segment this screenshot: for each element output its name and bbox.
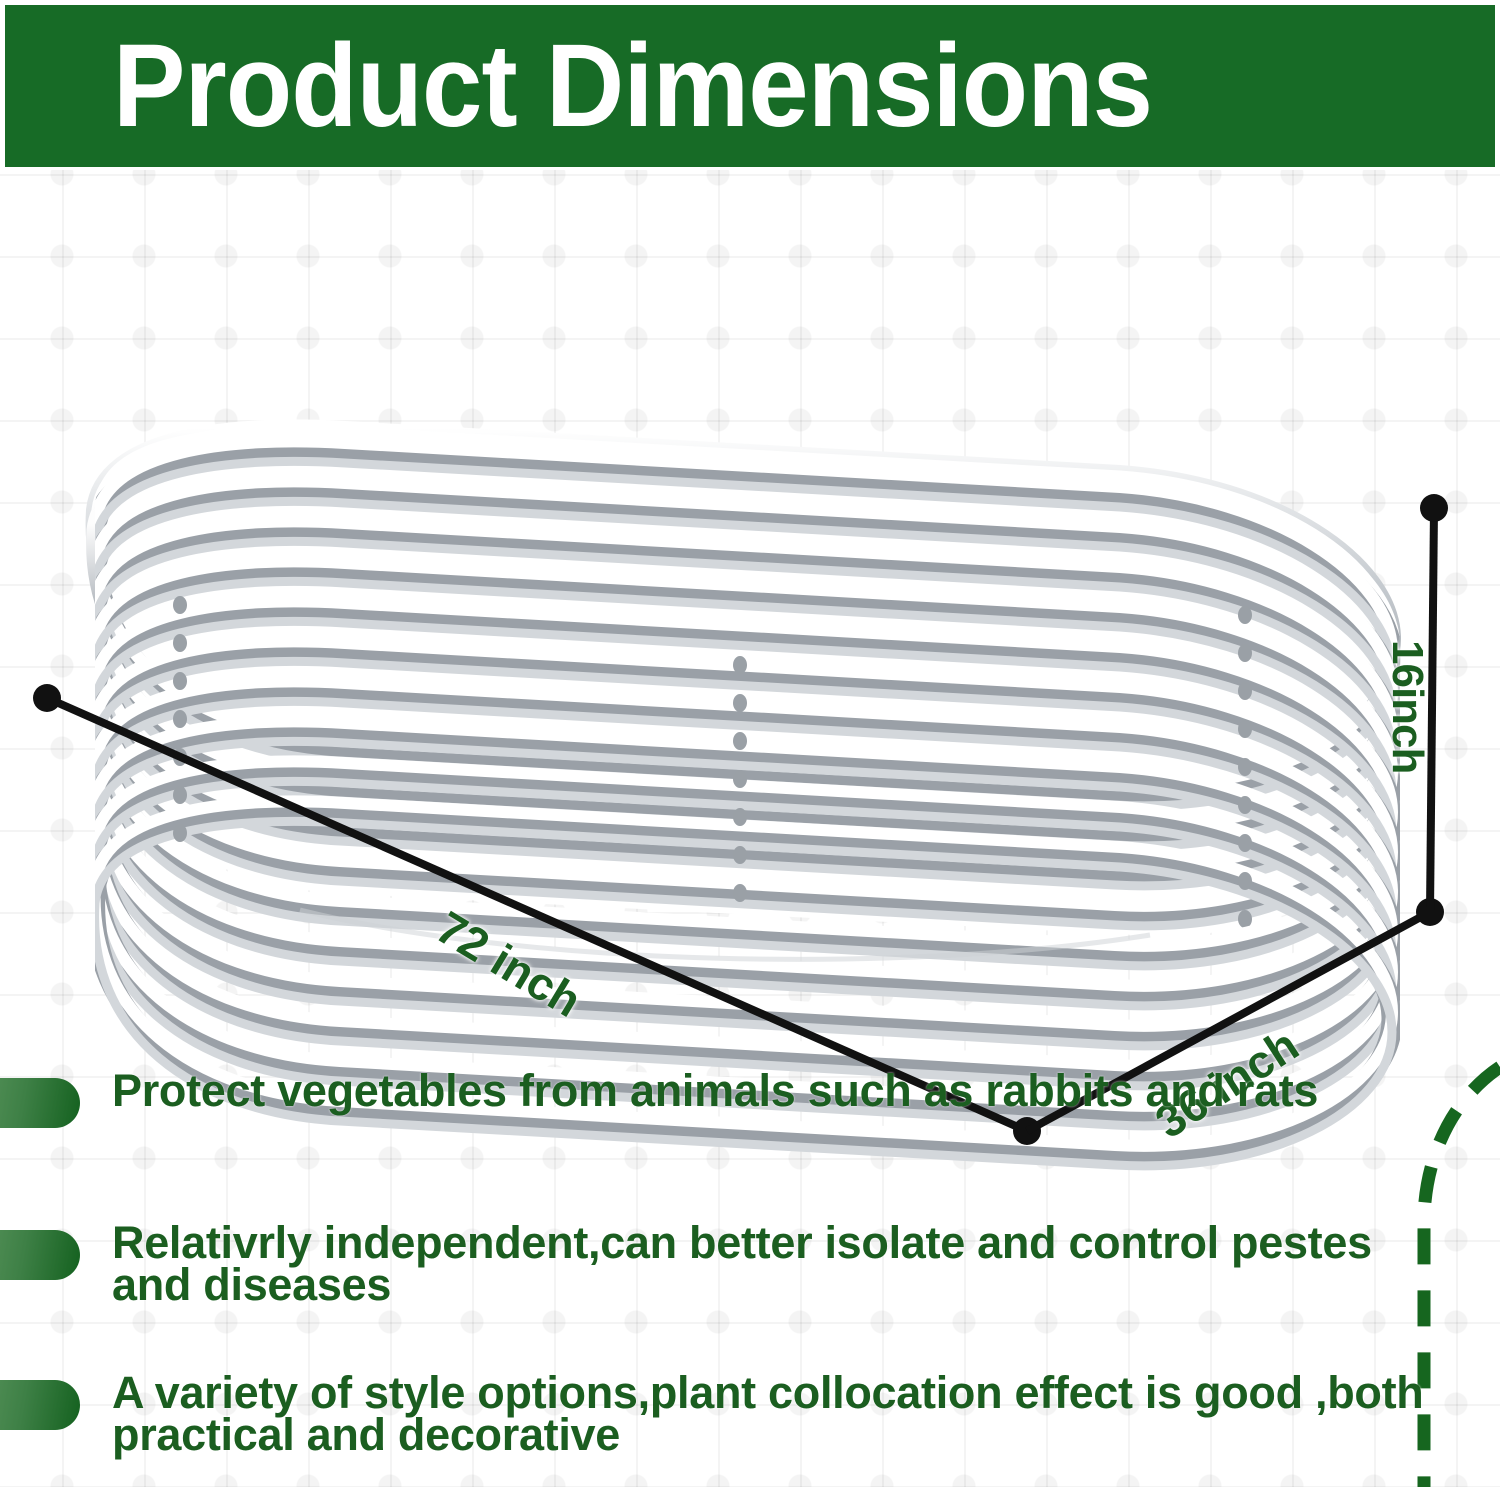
screw-rivet (1238, 606, 1252, 624)
header-banner: Product Dimensions (5, 5, 1495, 167)
screw-rivet (733, 732, 747, 750)
dimension-label-height: 16inch (1382, 640, 1432, 773)
screw-rivet (173, 786, 187, 804)
page-title: Product Dimensions (113, 27, 1152, 145)
screw-rivet (1238, 872, 1252, 890)
bullet-pill-icon (0, 1078, 80, 1128)
screw-rivet (1238, 910, 1252, 928)
screw-rivet (733, 656, 747, 674)
list-item: Relativrly independent,can better isolat… (0, 1222, 1500, 1307)
screw-rivet (1238, 834, 1252, 852)
list-item: A variety of style options,plant colloca… (0, 1372, 1500, 1457)
screw-rivet (173, 824, 187, 842)
screw-rivet (173, 748, 187, 766)
screw-rivet (173, 596, 187, 614)
screw-rivet (733, 808, 747, 826)
screw-rivet (1238, 682, 1252, 700)
screw-rivet (1238, 720, 1252, 738)
list-item: Protect vegetables from animals such as … (0, 1070, 1500, 1128)
screw-rivet (733, 694, 747, 712)
screw-rivet (1238, 758, 1252, 776)
screw-rivet (173, 634, 187, 652)
screw-rivet (733, 846, 747, 864)
screw-rivet (733, 770, 747, 788)
screw-rivet (733, 884, 747, 902)
bullet-pill-icon (0, 1380, 80, 1430)
feature-list: Protect vegetables from animals such as … (0, 1070, 1500, 1487)
screw-rivet (1238, 796, 1252, 814)
feature-text: Protect vegetables from animals such as … (112, 1070, 1318, 1112)
bullet-pill-icon (0, 1230, 80, 1280)
screw-rivet (173, 710, 187, 728)
screw-rivet (173, 672, 187, 690)
feature-text: Relativrly independent,can better isolat… (112, 1222, 1442, 1307)
feature-text: A variety of style options,plant colloca… (112, 1372, 1442, 1457)
screw-rivet (1238, 644, 1252, 662)
